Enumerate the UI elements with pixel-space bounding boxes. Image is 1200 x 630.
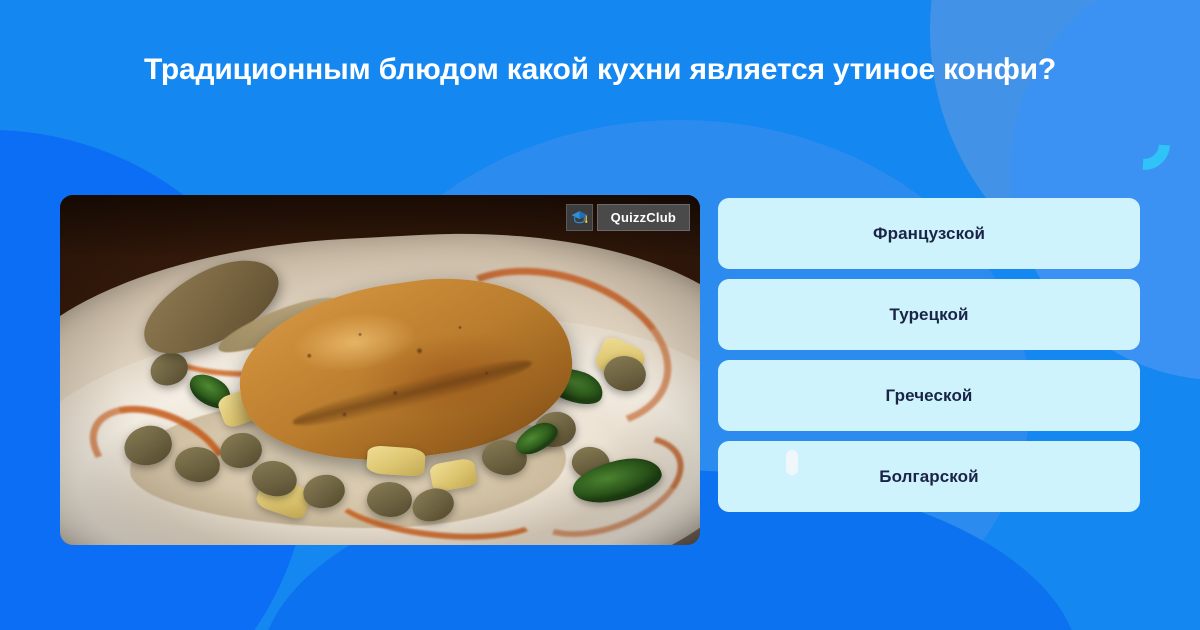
answer-option-label: Турецкой: [889, 305, 968, 325]
answer-option-3[interactable]: Греческой: [718, 360, 1140, 431]
watermark-brand-label: QuizzClub: [597, 204, 690, 231]
question-image: QuizzClub: [60, 195, 700, 545]
answer-option-label: Болгарской: [879, 467, 978, 487]
answer-option-2[interactable]: Турецкой: [718, 279, 1140, 350]
answer-option-4[interactable]: Болгарской: [718, 441, 1140, 512]
answer-options-list: Французской Турецкой Греческой Болгарско…: [718, 198, 1140, 512]
watermark: QuizzClub: [566, 204, 690, 231]
potato-piece: [366, 445, 425, 477]
answer-option-1[interactable]: Французской: [718, 198, 1140, 269]
graduation-cap-icon: [566, 204, 593, 231]
question-text: Традиционным блюдом какой кухни является…: [100, 48, 1100, 91]
answer-option-label: Французской: [873, 224, 985, 244]
scroll-thumb[interactable]: [786, 450, 798, 475]
answer-option-label: Греческой: [886, 386, 973, 406]
quiz-question-card: Традиционным блюдом какой кухни является…: [0, 0, 1200, 630]
duck-confit-photo-art: [60, 195, 700, 545]
